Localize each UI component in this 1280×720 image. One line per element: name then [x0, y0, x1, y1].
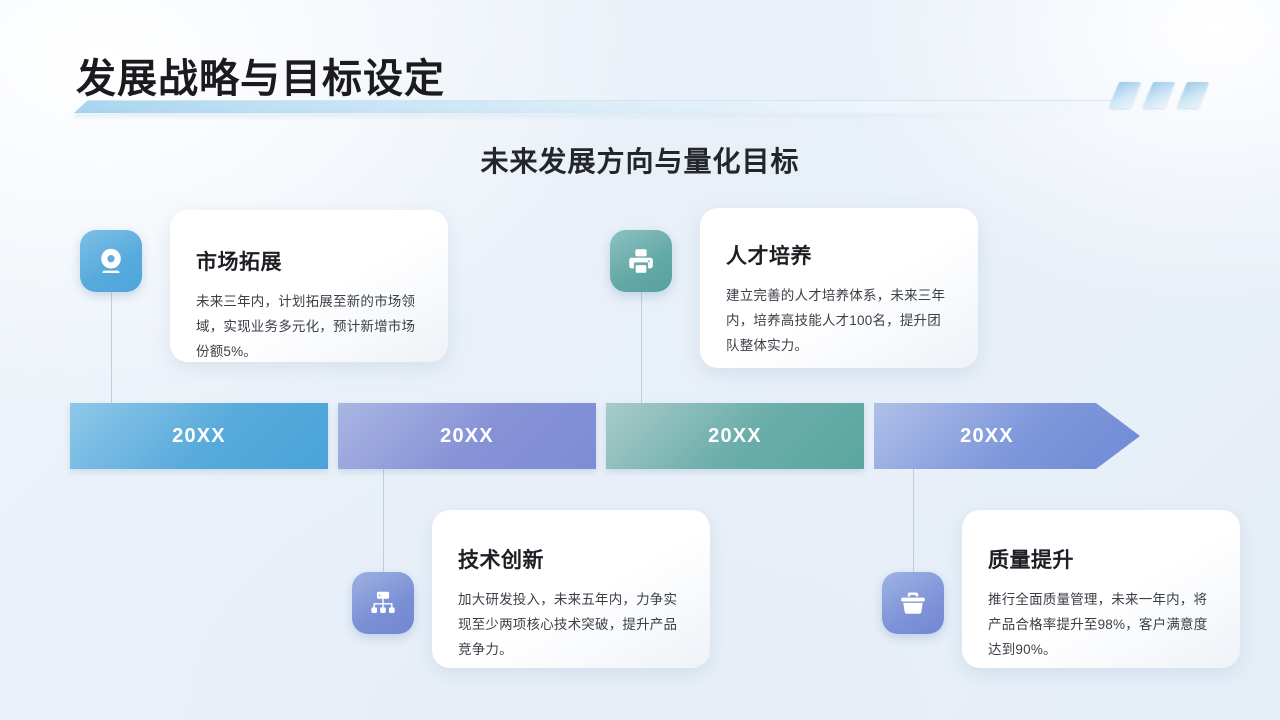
info-card-talent-training[interactable]: 人才培养 建立完善的人才培养体系，未来三年内，培养高技能人才100名，提升团队整… — [700, 208, 978, 368]
timeline-segment-4[interactable]: 20XX — [874, 403, 1140, 469]
card-body: 建立完善的人才培养体系，未来三年内，培养高技能人才100名，提升团队整体实力。 — [726, 284, 952, 359]
title-underline — [60, 98, 1220, 120]
connector-line-1 — [111, 292, 112, 404]
timeline-segment-1[interactable]: 20XX — [70, 403, 328, 469]
webcam-icon — [96, 246, 126, 276]
title-underline-shadow — [74, 113, 1124, 117]
icon-tile-quality-improvement[interactable] — [882, 572, 944, 634]
timeline-bar: 20XX 20XX 20XX 20XX — [70, 403, 1140, 469]
timeline-segment-label: 20XX — [172, 425, 226, 448]
timeline-segment-label: 20XX — [708, 425, 762, 448]
chevron-decoration — [1114, 82, 1234, 108]
chevron-icon — [1109, 82, 1142, 108]
card-title: 技术创新 — [458, 544, 684, 574]
icon-tile-market-expansion[interactable] — [80, 230, 142, 292]
timeline-segment-label: 20XX — [440, 425, 494, 448]
info-card-market-expansion[interactable]: 市场拓展 未来三年内，计划拓展至新的市场领域，实现业务多元化，预计新增市场份额5… — [170, 210, 448, 362]
page-title: 发展战略与目标设定 — [76, 46, 445, 104]
connector-line-3 — [383, 468, 384, 573]
title-underline-bar — [74, 100, 1134, 113]
card-title: 质量提升 — [988, 544, 1214, 574]
timeline-segment-3[interactable]: 20XX — [606, 403, 864, 469]
icon-tile-talent-training[interactable] — [610, 230, 672, 292]
chevron-icon — [1143, 82, 1176, 108]
chevron-icon — [1177, 82, 1210, 108]
sitemap-icon — [368, 588, 398, 618]
printer-icon — [626, 246, 656, 276]
connector-line-4 — [913, 468, 914, 573]
icon-tile-tech-innovation[interactable] — [352, 572, 414, 634]
card-body: 加大研发投入，未来五年内，力争实现至少两项核心技术突破，提升产品竞争力。 — [458, 588, 684, 663]
card-title: 市场拓展 — [196, 246, 422, 276]
timeline-segment-label: 20XX — [960, 425, 1014, 448]
connector-line-2 — [641, 292, 642, 404]
slide-canvas: 发展战略与目标设定 未来发展方向与量化目标 20XX 20XX 20XX 20X… — [0, 0, 1280, 720]
info-card-quality-improvement[interactable]: 质量提升 推行全面质量管理，未来一年内，将产品合格率提升至98%，客户满意度达到… — [962, 510, 1240, 668]
card-body: 未来三年内，计划拓展至新的市场领域，实现业务多元化，预计新增市场份额5%。 — [196, 290, 422, 365]
card-body: 推行全面质量管理，未来一年内，将产品合格率提升至98%，客户满意度达到90%。 — [988, 588, 1214, 663]
timeline-segment-2[interactable]: 20XX — [338, 403, 596, 469]
info-card-tech-innovation[interactable]: 技术创新 加大研发投入，未来五年内，力争实现至少两项核心技术突破，提升产品竞争力… — [432, 510, 710, 668]
briefcase-icon — [898, 588, 928, 618]
card-title: 人才培养 — [726, 240, 952, 270]
section-subtitle: 未来发展方向与量化目标 — [0, 140, 1280, 180]
